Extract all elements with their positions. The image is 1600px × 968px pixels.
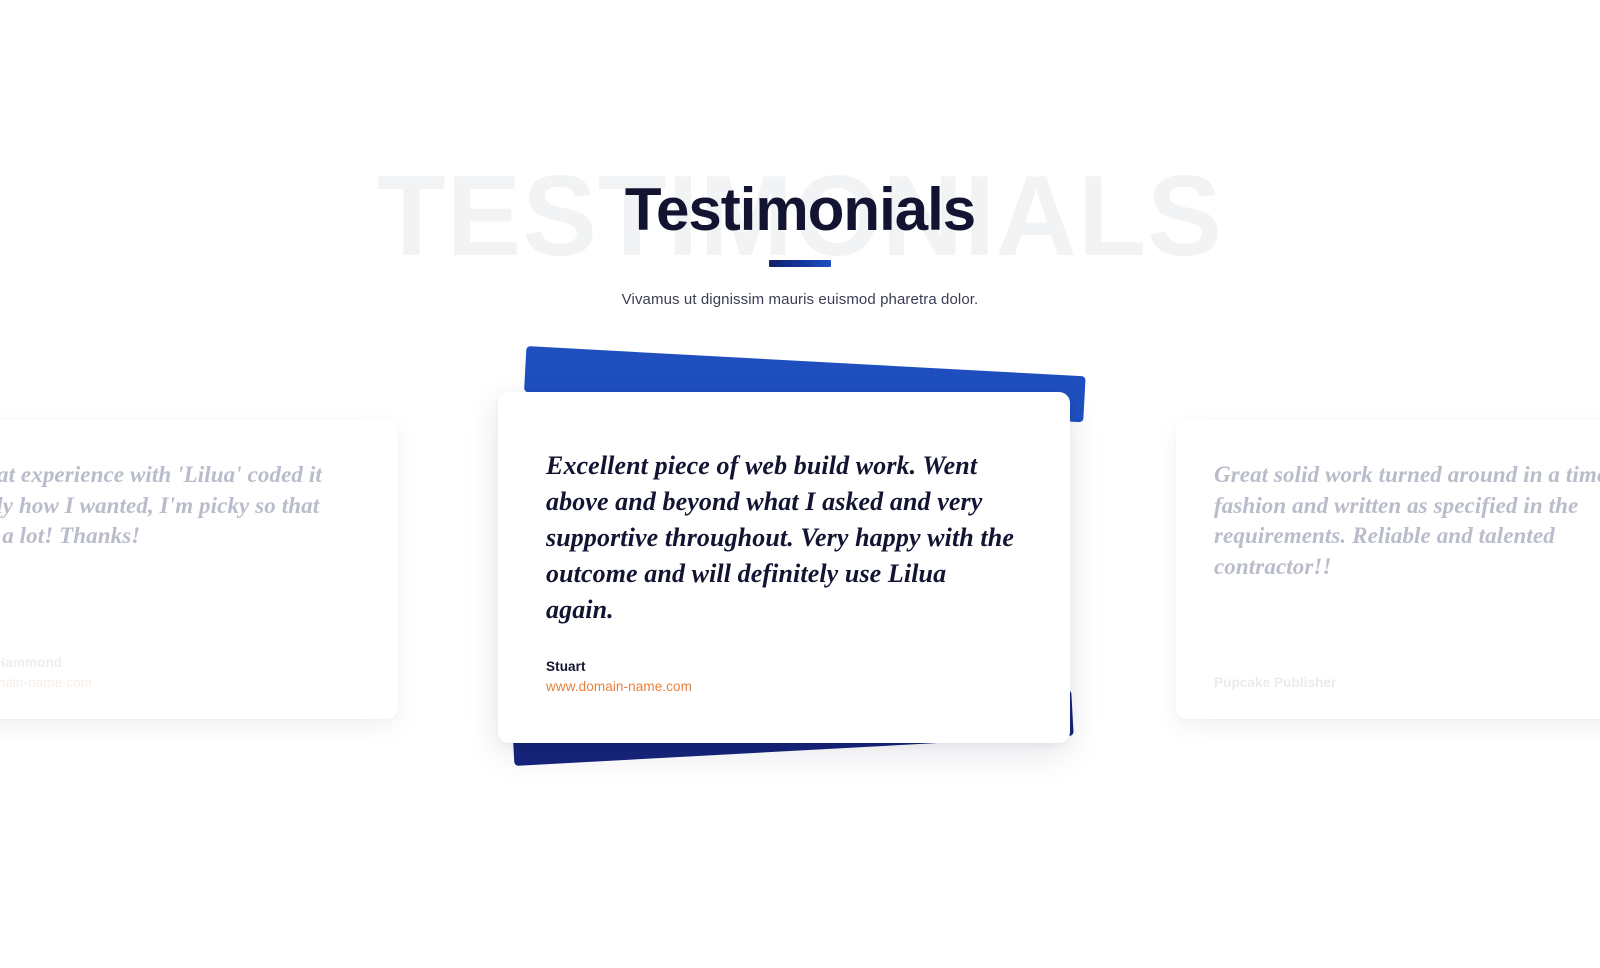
testimonial-author-name: Stuart (546, 657, 692, 677)
testimonial-carousel[interactable]: A great experience with 'Lilua' coded it… (0, 0, 1600, 968)
testimonial-attribution: Pupcake Publisher (1214, 673, 1337, 693)
testimonial-attribution: Sophie Hammond www.domain-name.com (0, 653, 92, 694)
testimonial-author-name: Sophie Hammond (0, 653, 92, 673)
testimonials-section: TESTIMONIALS Testimonials Vivamus ut dig… (0, 0, 1600, 968)
testimonial-author-url[interactable]: www.domain-name.com (546, 677, 692, 697)
testimonial-author-name: Pupcake Publisher (1214, 673, 1337, 693)
testimonial-author-url[interactable]: www.domain-name.com (0, 673, 92, 693)
testimonial-quote: A great experience with 'Lilua' coded it… (0, 460, 356, 552)
testimonial-card-left[interactable]: A great experience with 'Lilua' coded it… (0, 420, 398, 719)
testimonial-card-right[interactable]: Great solid work turned around in a time… (1176, 420, 1600, 719)
testimonial-quote: Excellent piece of web build work. Went … (546, 448, 1018, 627)
testimonial-attribution: Stuart www.domain-name.com (546, 657, 692, 698)
testimonial-card-active[interactable]: Excellent piece of web build work. Went … (498, 392, 1070, 743)
testimonial-quote: Great solid work turned around in a time… (1214, 460, 1600, 582)
